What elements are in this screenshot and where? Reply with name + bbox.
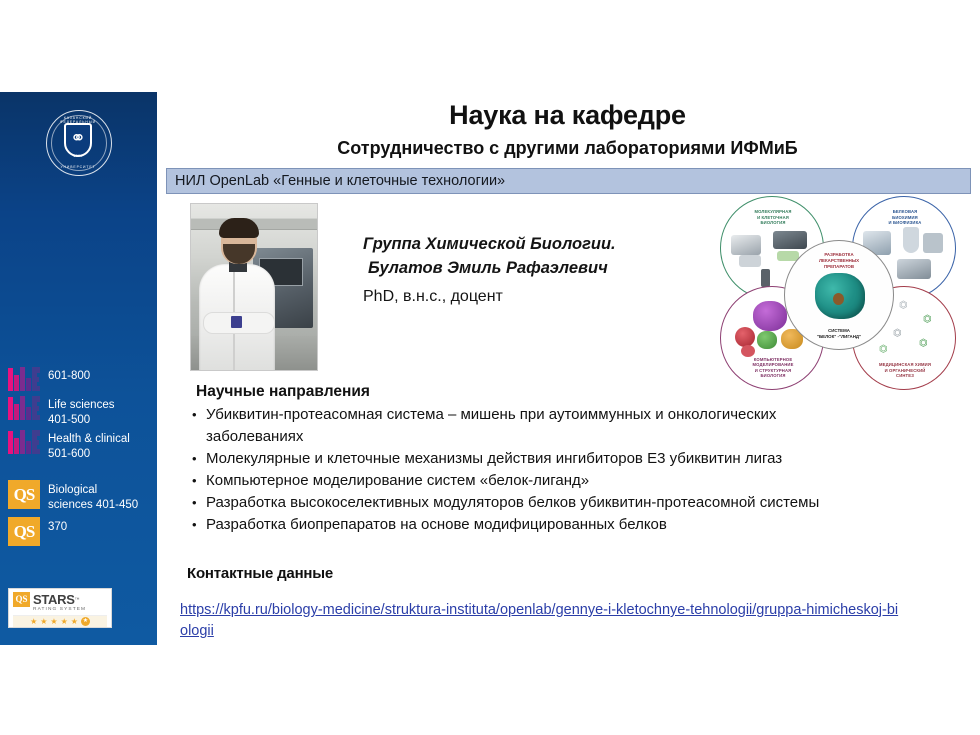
scientist-photo [190, 203, 318, 371]
list-item: Молекулярные и клеточные механизмы дейст… [188, 448, 848, 470]
protein-model-icon [735, 327, 755, 347]
lab-banner-label: НИЛ OpenLab «Генные и клеточные технолог… [175, 173, 505, 189]
contact-url-link[interactable]: https://kpfu.ru/biology-medicine/struktu… [180, 600, 900, 642]
list-item: Разработка высокоселективных модуляторов… [188, 492, 848, 514]
seal-snake-icon: ⚭ [67, 127, 89, 151]
kfu-seal-logo: КАЗАНСКИЙ ФЕДЕРАЛЬНЫЙ ⚭ 1804 УНИВЕРСИТЕТ [46, 110, 112, 176]
times-higher-education-logo-icon [8, 429, 40, 454]
qs-logo-icon: QS [8, 517, 40, 546]
qs-mark-icon: QS [13, 592, 30, 607]
instrument-icon [897, 259, 931, 279]
ranking-row-qs-biological: QS Biological sciences 401-450 [8, 480, 158, 513]
list-item: Компьютерное моделирование систем «белок… [188, 470, 848, 492]
instrument-icon [773, 231, 807, 249]
protein-model-icon [741, 345, 755, 357]
protein-model-icon [757, 331, 777, 349]
molecule-structure-icon: ⏣ [899, 301, 908, 311]
list-item: Убиквитин-протеасомная система – мишень … [188, 404, 848, 448]
star-icon: ★ [30, 618, 37, 626]
lab-banner: НИЛ OpenLab «Генные и клеточные технолог… [166, 168, 971, 194]
directions-list: Убиквитин-протеасомная система – мишень … [188, 404, 848, 536]
rankings-spacer [8, 466, 158, 480]
diagram-center-bottom-label: СИСТЕМА "БЕЛОК" -"ЛИГАНД" [793, 328, 885, 340]
slide-root: КАЗАНСКИЙ ФЕДЕРАЛЬНЫЙ ⚭ 1804 УНИВЕРСИТЕТ… [0, 0, 980, 735]
qs-stars-header: QS STARS ™ [13, 592, 107, 607]
diagram-center-top-label: РАЗРАБОТКА ЛЕКАРСТВЕННЫХ ПРЕПАРАТОВ [793, 252, 885, 269]
list-item: Разработка биопрепаратов на основе модиф… [188, 514, 848, 536]
person-name: Булатов Эмиль Рафаэлевич [363, 256, 703, 280]
qs-stars-strip: ★ ★ ★ ★ ★ ★ [13, 615, 107, 627]
qs-logo-icon: QS [8, 480, 40, 509]
page-title: Наука на кафедре [165, 100, 970, 131]
trademark-symbol: ™ [75, 597, 80, 603]
flask-icon [903, 227, 919, 253]
ranking-label: 370 [48, 517, 67, 535]
molecule-structure-icon: ⏣ [919, 339, 928, 349]
ranking-row-qs-overall: QS 370 [8, 517, 158, 546]
molecule-structure-icon: ⏣ [893, 329, 902, 339]
qs-stars-subtitle: RATING SYSTEM [33, 607, 107, 612]
ranking-label: Biological sciences 401-450 [48, 480, 138, 513]
diagram-bubble-label: МОЛЕКУЛЯРНАЯ И КЛЕТОЧНАЯ БИОЛОГИЯ [729, 209, 817, 226]
microscope-icon [761, 269, 770, 287]
ligand-icon [833, 293, 844, 305]
diagram-bubble-label: МЕДИЦИНСКАЯ ХИМИЯ И ОРГАНИЧЕСКИЙ СИНТЕЗ [861, 362, 949, 379]
contacts-heading: Контактные данные [187, 565, 333, 582]
ranking-row-the-life-sciences: Life sciences 401-500 [8, 395, 158, 428]
star-icon: ★ [50, 618, 57, 626]
ranking-label: Health & clinical 501-600 [48, 429, 130, 462]
star-icon: ★ [61, 618, 68, 626]
times-higher-education-logo-icon [8, 395, 40, 420]
page-subtitle: Сотрудничество с другими лабораториями И… [165, 138, 970, 159]
qs-stars-badge: QS STARS ™ RATING SYSTEM ★ ★ ★ ★ ★ ★ [8, 588, 112, 628]
instrument-icon [923, 233, 943, 253]
ranking-row-the-overall: 601-800 [8, 366, 158, 391]
star-badge-icon: ★ [81, 617, 90, 626]
group-name: Группа Химической Биологии. [363, 232, 703, 256]
person-info: Группа Химической Биологии. Булатов Эмил… [363, 232, 703, 310]
seal-year: 1804 [46, 154, 110, 158]
qs-stars-word: STARS [33, 592, 75, 607]
ranking-label: Life sciences 401-500 [48, 395, 114, 428]
photo-id-badge [231, 316, 242, 328]
seal-text-bottom: УНИВЕРСИТЕТ [46, 165, 110, 169]
star-icon: ★ [71, 618, 78, 626]
molecule-structure-icon: ⏣ [879, 345, 888, 355]
person-degree: PhD, в.н.с., доцент [363, 280, 703, 310]
diagram-bubble-label: БЕЛКОВАЯ БИОХИМИЯ И БИОФИЗИКА [861, 209, 949, 226]
ranking-label: 601-800 [48, 366, 90, 384]
research-areas-diagram: МОЛЕКУЛЯРНАЯ И КЛЕТОЧНАЯ БИОЛОГИЯ БЕЛКОВ… [718, 196, 960, 392]
times-higher-education-logo-icon [8, 366, 40, 391]
star-icon: ★ [40, 618, 47, 626]
diagram-bubble-center: РАЗРАБОТКА ЛЕКАРСТВЕННЫХ ПРЕПАРАТОВ СИСТ… [784, 240, 894, 350]
instrument-icon [739, 255, 761, 267]
diagram-bubble-label: КОМПЬЮТЕРНОЕ МОДЕЛИРОВАНИЕ И СТРУКТУРНАЯ… [729, 357, 817, 379]
protein-model-icon [753, 301, 787, 331]
instrument-icon [731, 235, 761, 255]
ranking-row-the-health-clinical: Health & clinical 501-600 [8, 429, 158, 462]
molecule-structure-icon: ⏣ [923, 315, 932, 325]
photo-hair [219, 218, 259, 238]
rankings-list: 601-800 Life sciences 401-500 Health & c… [8, 366, 158, 550]
sidebar: КАЗАНСКИЙ ФЕДЕРАЛЬНЫЙ ⚭ 1804 УНИВЕРСИТЕТ… [0, 92, 157, 645]
directions-heading: Научные направления [196, 383, 370, 401]
